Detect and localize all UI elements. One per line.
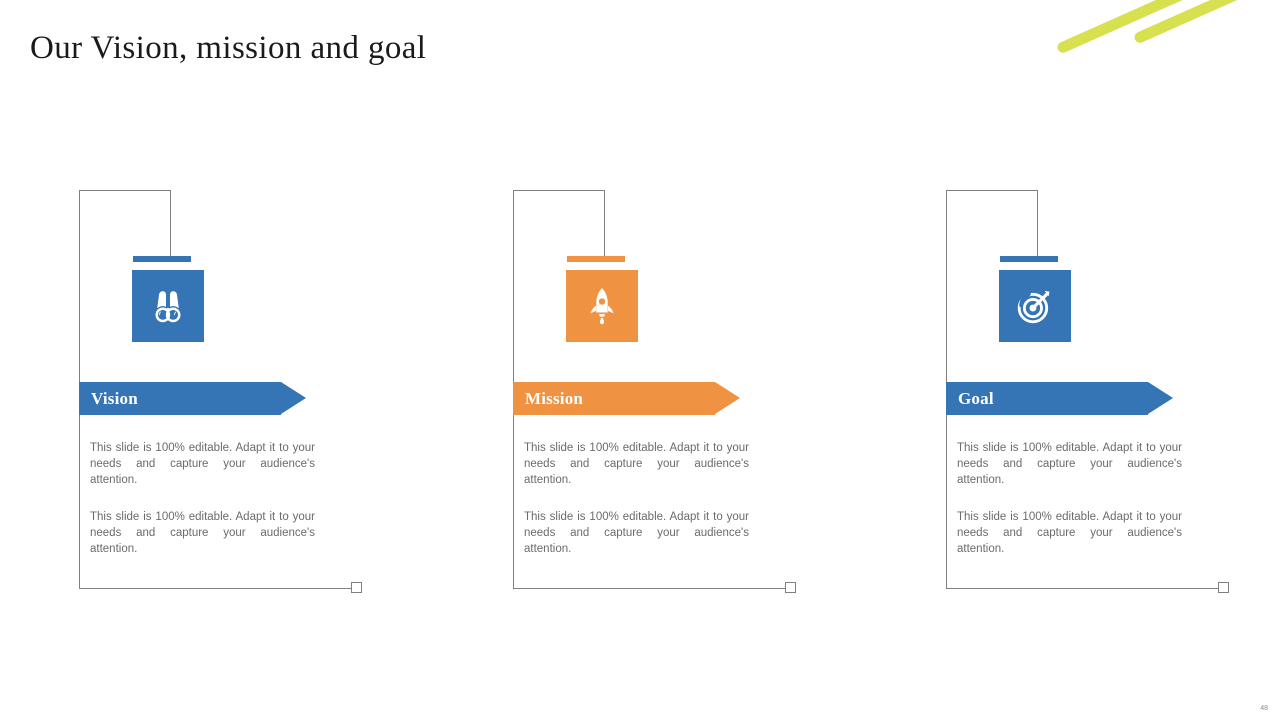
card-mission[interactable]: Mission This slide is 100% editable. Ada… [513,190,813,593]
card-body-goal: This slide is 100% editable. Adapt it to… [957,440,1182,557]
card-paragraph: This slide is 100% editable. Adapt it to… [524,440,749,488]
banner-arrow-icon [715,382,740,414]
card-frame-drop-line [1037,190,1038,256]
card-paragraph: This slide is 100% editable. Adapt it to… [524,509,749,557]
diagonal-stripe-icon [1133,0,1275,45]
icon-tile-goal [999,270,1071,342]
card-frame-drop-line [604,190,605,256]
icon-hanger-bar [1000,256,1058,262]
icon-tile-mission [566,270,638,342]
icon-hanger-bar [567,256,625,262]
card-frame-bottom-line [946,588,1221,589]
card-frame-end-square [785,582,796,593]
card-frame-top-line [79,190,171,191]
binoculars-icon [146,284,190,328]
card-frame-bottom-line [79,588,354,589]
card-frame-bottom-line [513,588,788,589]
card-frame-end-square [351,582,362,593]
card-banner-mission: Mission [513,382,740,415]
icon-tile-vision [132,270,204,342]
card-body-vision: This slide is 100% editable. Adapt it to… [90,440,315,557]
decorative-stripes [1040,0,1280,80]
card-frame-top-line [946,190,1038,191]
card-paragraph: This slide is 100% editable. Adapt it to… [90,440,315,488]
card-paragraph: This slide is 100% editable. Adapt it to… [90,509,315,557]
target-icon [1013,284,1057,328]
card-goal[interactable]: Goal This slide is 100% editable. Adapt … [946,190,1246,593]
card-paragraph: This slide is 100% editable. Adapt it to… [957,509,1182,557]
banner-arrow-icon [281,382,306,414]
card-group: Vision This slide is 100% editable. Adap… [0,190,1280,595]
card-body-mission: This slide is 100% editable. Adapt it to… [524,440,749,557]
card-title-mission: Mission [525,389,583,409]
icon-hanger-bar [133,256,191,262]
banner-arrow-icon [1148,382,1173,414]
page-number: 48 [1260,705,1268,712]
diagonal-stripe-icon [1056,0,1216,55]
card-banner-goal: Goal [946,382,1173,415]
rocket-icon [580,284,624,328]
card-title-vision: Vision [91,389,138,409]
page-title: Our Vision, mission and goal [30,30,426,67]
card-banner-vision: Vision [79,382,306,415]
card-paragraph: This slide is 100% editable. Adapt it to… [957,440,1182,488]
card-vision[interactable]: Vision This slide is 100% editable. Adap… [79,190,379,593]
card-frame-drop-line [170,190,171,256]
card-title-goal: Goal [958,389,994,409]
card-frame-end-square [1218,582,1229,593]
card-frame-top-line [513,190,605,191]
